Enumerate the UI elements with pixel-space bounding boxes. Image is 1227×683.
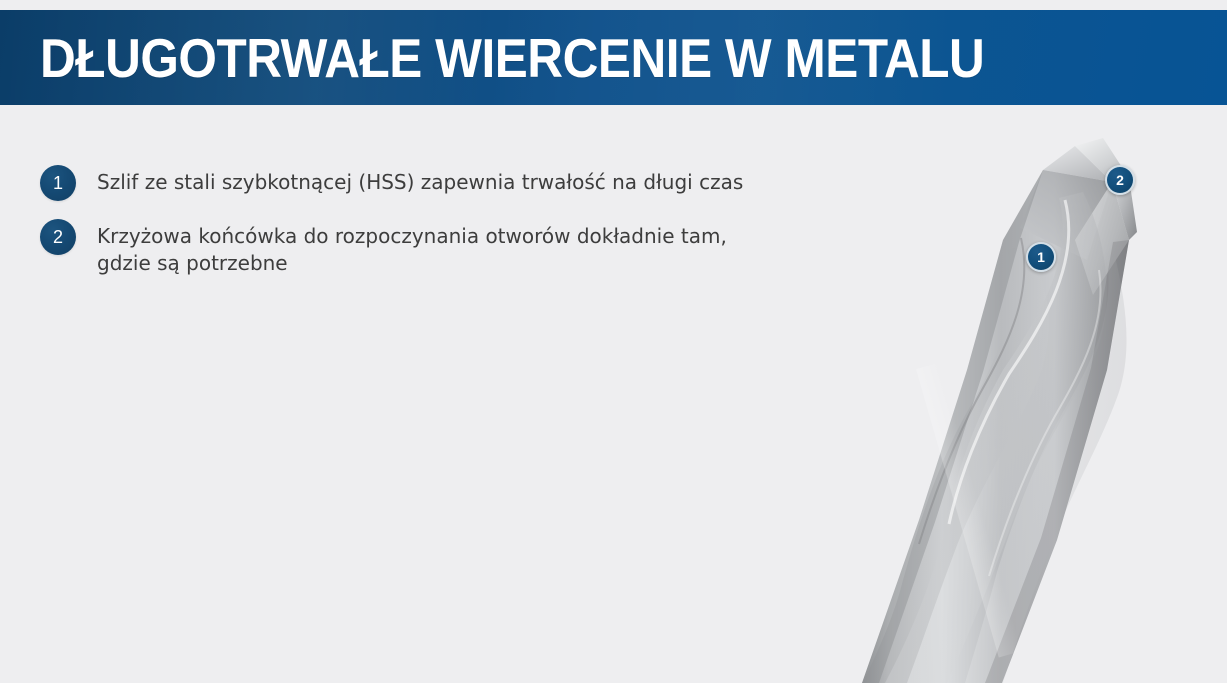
flute-highlight-1 [885, 192, 1107, 683]
feature-text-2: Krzyżowa końcówka do rozpoczynania otwor… [97, 219, 757, 277]
feature-number-badge-2: 2 [40, 219, 76, 255]
flute-edge-highlight-2 [989, 270, 1101, 576]
left-edge-shadow [862, 170, 1043, 683]
callout-badge-1[interactable]: 1 [1026, 242, 1056, 272]
drill-shaft-body [862, 170, 1129, 683]
feature-number-badge-1: 1 [40, 165, 76, 201]
feature-list: 1 Szlif ze stali szybkotnącej (HSS) zape… [40, 165, 770, 277]
top-spacer [0, 0, 1227, 10]
page-title: Długotrwałe wiercenie w metalu [40, 29, 984, 87]
list-item: 2 Krzyżowa końcówka do rozpoczynania otw… [40, 219, 770, 277]
flute-highlight-2 [965, 256, 1127, 683]
header-banner: Długotrwałe wiercenie w metalu [0, 10, 1227, 105]
flute-shadow-1 [863, 244, 1049, 683]
right-edge-shadow [985, 240, 1129, 683]
promo-banner-page: Długotrwałe wiercenie w metalu 1 Szlif z… [0, 0, 1227, 683]
flute-edge-shadow [919, 238, 1024, 544]
list-item: 1 Szlif ze stali szybkotnącej (HSS) zape… [40, 165, 770, 201]
drill-bit-image [807, 120, 1227, 683]
callout-badge-2[interactable]: 2 [1105, 165, 1135, 195]
feature-text-1: Szlif ze stali szybkotnącej (HSS) zapewn… [97, 165, 743, 196]
tip-facet-top-left [1043, 146, 1112, 182]
tip-facet-flank [1075, 182, 1129, 295]
specular-streak [916, 363, 1022, 658]
